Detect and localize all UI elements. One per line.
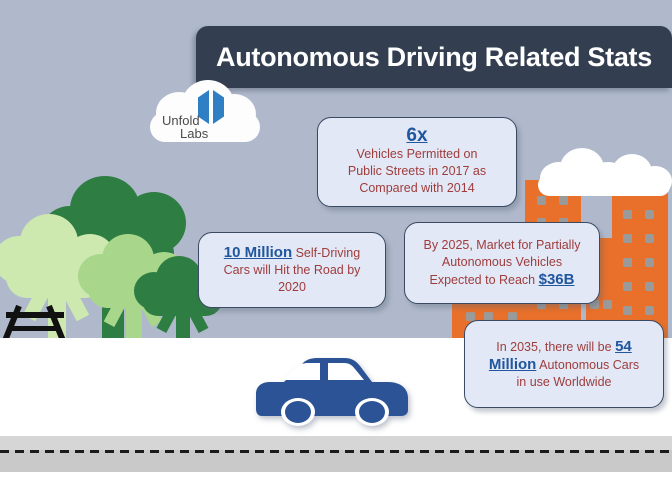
stat-line: in use Worldwide [517,374,612,391]
stat-highlight-value: 6x [406,125,427,146]
building-window [537,196,546,205]
stat-highlight-value: $36B [539,271,575,288]
building-tall [612,172,668,340]
building-window [623,258,632,267]
stat-line: 6x [406,127,427,146]
picnic-leg [3,305,22,341]
stat-card-market-2025: By 2025, Market for PartiallyAutonomous … [404,222,600,304]
stat-line: By 2025, Market for Partially [423,237,580,254]
stat-highlight-value: 10 Million [224,244,292,261]
stat-line: Cars will Hit the Road by [224,262,361,279]
picnic-table-icon [6,302,66,342]
stat-line: 2020 [278,279,306,296]
building-window [645,210,654,219]
building-window [623,306,632,315]
stat-line: Expected to Reach $36B [430,271,575,289]
picnic-tabletop [6,312,64,318]
infographic-canvas: Autonomous Driving Related Stats Unfold … [0,0,672,480]
stat-line: Public Streets in 2017 as [348,163,486,180]
building-window [645,282,654,291]
page-title: Autonomous Driving Related Stats [216,42,652,73]
stat-text: Public Streets in 2017 as [348,164,486,178]
picnic-leg [46,305,65,341]
stat-text: in use Worldwide [517,375,612,389]
road-lane-marking [0,450,672,453]
stat-text: Compared with 2014 [359,181,474,195]
stat-text: 2020 [278,280,306,294]
building-window [645,234,654,243]
header-bar: Autonomous Driving Related Stats [196,26,672,88]
stat-line: 10 Million Self-Driving [224,244,360,262]
logo-wordmark: Unfold Labs [158,114,258,140]
stat-text: Self-Driving [292,246,360,260]
stat-line: Compared with 2014 [359,180,474,197]
stat-highlight-value: 54 [615,338,632,355]
road-upper-band [0,436,672,450]
stat-line: Vehicles Permitted on [357,146,478,163]
building-window [623,282,632,291]
picnic-bench [10,326,60,331]
road-lower-edge [0,472,672,480]
stat-text: Autonomous Vehicles [442,255,562,269]
stat-line: Million Autonomous Cars [489,356,639,374]
unfold-labs-logo: Unfold Labs [146,76,266,148]
stat-text: By 2025, Market for Partially [423,238,580,252]
stat-line: In 2035, there will be 54 [496,338,632,356]
stat-text: Expected to Reach [430,273,539,287]
building-window [623,210,632,219]
stat-highlight-value: Million [489,356,537,373]
stat-text: Autonomous Cars [536,358,639,372]
stat-card-cars-2035: In 2035, there will be 54Million Autonom… [464,320,664,408]
stat-text: Vehicles Permitted on [357,147,478,161]
building-window [645,306,654,315]
stat-text: Cars will Hit the Road by [224,263,361,277]
autonomous-car-icon [248,350,416,426]
stat-card-vehicles-permitted: 6xVehicles Permitted onPublic Streets in… [317,117,517,207]
building-window [603,300,612,309]
stat-line: Autonomous Vehicles [442,254,562,271]
building-window [645,258,654,267]
building-window [623,234,632,243]
logo-text-line1: Unfold [162,114,258,127]
stat-card-self-driving-cars-2020: 10 Million Self-DrivingCars will Hit the… [198,232,386,308]
building-window [559,196,568,205]
logo-text-line2: Labs [180,127,258,140]
sky-cloud-right [592,152,672,196]
stat-text: In 2035, there will be [496,340,615,354]
